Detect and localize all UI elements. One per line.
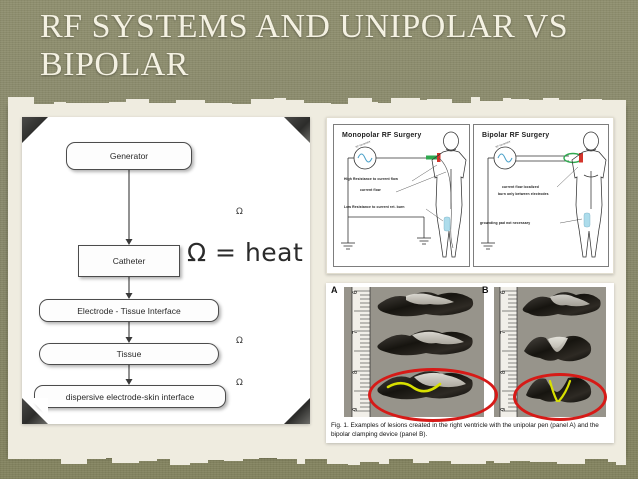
flow-node-catheter-label: Catheter [113,256,146,266]
torn-edge-top [8,97,626,106]
flow-node-generator[interactable]: Generator [66,142,192,170]
lesion-panel-a-letter: A [331,285,338,295]
monopolar-note-2: current flow [360,188,381,192]
flow-node-tissue[interactable]: Tissue [39,343,219,365]
bipolar-note-1: current flow localized [502,185,539,189]
bipolar-note-3: grounding pad not necessary [480,221,530,225]
bipolar-note-2: burn only between electrodes [498,192,549,196]
flow-node-dispersive-electrode-skin-interface-label: dispersive electrode-skin interface [66,392,195,402]
omega-symbol-1: Ω [236,207,243,217]
lesion-figure-caption: Fig. 1. Examples of lesions created in t… [331,422,609,439]
photo-corner-bottom-left-icon [22,398,48,424]
monopolar-diagram: RF Generator [334,125,470,267]
lesion-figure-card: 6 7 8 9 [326,283,614,443]
monopolar-note-3: Low Resistance to current ret. burn [344,205,405,209]
bipolar-diagram: RF Generator [474,125,609,267]
rf-surgery-card: Monopolar RF Surgery RF Generator [326,117,614,274]
flowchart-card: Generator Catheter Electrode - Tissue In… [22,117,310,424]
flow-node-dispersive-electrode-skin-interface[interactable]: dispersive electrode-skin interface [34,385,226,408]
flow-node-generator-label: Generator [110,151,148,161]
photo-corner-bottom-right-icon [284,398,310,424]
slide-canvas: RF SYSTEMS AND UNIPOLAR VS BIPOLAR Gener… [0,0,638,479]
flow-node-electrode-tissue-interface[interactable]: Electrode - Tissue Interface [39,299,219,322]
flow-node-tissue-label: Tissue [117,349,142,359]
omega-symbol-3: Ω [236,378,243,388]
photo-corner-top-left-icon [22,117,48,143]
lesion-highlight-ellipse-b [513,373,607,421]
omega-equals-heat-label: Ω = heat [187,238,303,267]
monopolar-rf-panel: Monopolar RF Surgery RF Generator [333,124,470,267]
monopolar-note-1: High Resistance to current flow [344,177,398,181]
flow-node-electrode-tissue-interface-label: Electrode - Tissue Interface [77,306,180,316]
slide-title: RF SYSTEMS AND UNIPOLAR VS BIPOLAR [40,8,600,84]
lesion-panel-b-letter: B [482,285,489,295]
omega-symbol-2: Ω [236,336,243,346]
photo-corner-top-right-icon [284,117,310,143]
flow-node-catheter[interactable]: Catheter [78,245,180,277]
lesion-highlight-ellipse-a [368,368,498,422]
torn-edge-bottom [8,456,626,465]
bipolar-rf-panel: Bipolar RF Surgery RF Generator [473,124,609,267]
